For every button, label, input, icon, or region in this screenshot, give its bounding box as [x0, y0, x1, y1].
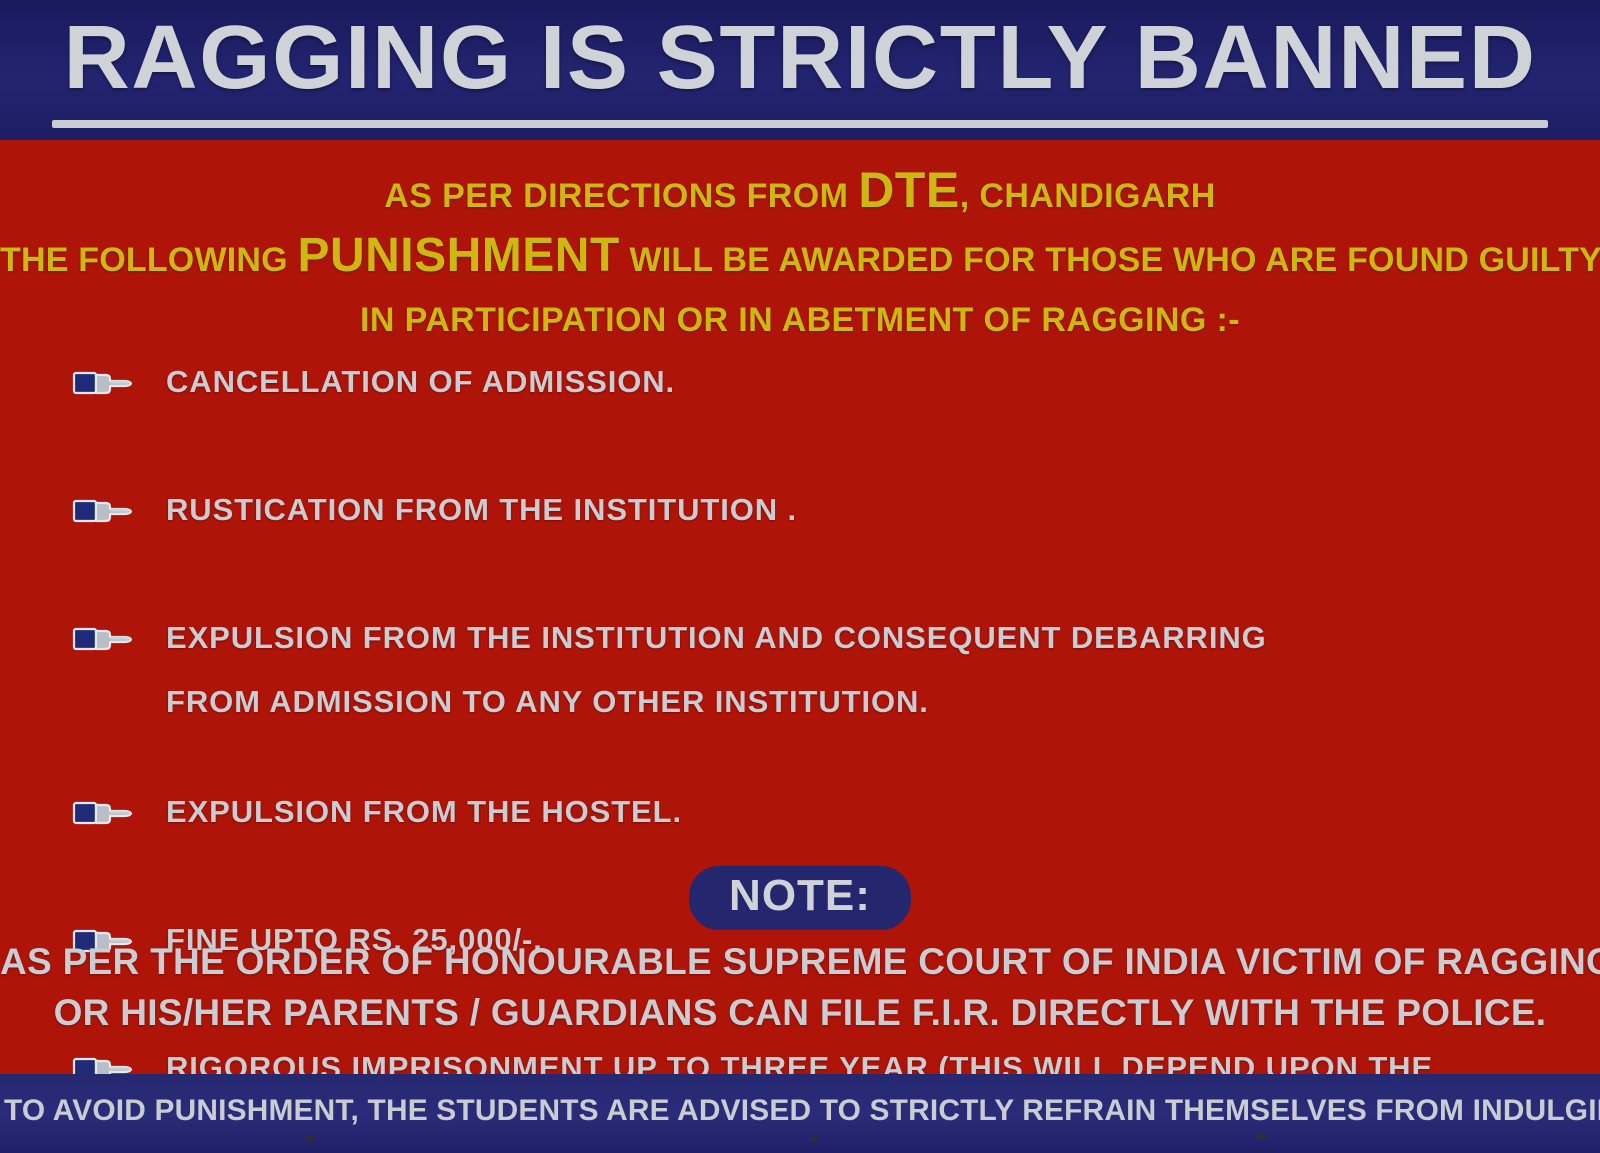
list-spacer: [72, 424, 1552, 488]
intro-block: AS PER DIRECTIONS FROM DTE, CHANDIGARH T…: [0, 160, 1600, 350]
intro-line-2-pre: THE FOLLOWING: [0, 241, 297, 279]
header-underline-rule: [52, 120, 1548, 128]
dte-emphasis: DTE: [858, 162, 960, 218]
pointing-hand-icon: [72, 622, 134, 656]
list-spacer: [72, 552, 1552, 616]
list-item: RUSTICATION FROM THE INSTITUTION .: [72, 488, 1552, 552]
list-item-label: EXPULSION FROM THE INSTITUTION AND CONSE…: [166, 616, 1552, 660]
page-title: RAGGING IS STRICTLY BANNED: [0, 6, 1600, 110]
list-item-label: EXPULSION FROM THE HOSTEL.: [166, 790, 1552, 834]
intro-line-2-post: WILL BE AWARDED FOR THOSE WHO ARE FOUND …: [620, 241, 1600, 279]
surface-speck: [1255, 1134, 1267, 1139]
ragging-notice-board: RAGGING IS STRICTLY BANNED AS PER DIRECT…: [0, 0, 1600, 1153]
note-body: AS PER THE ORDER OF HONOURABLE SUPREME C…: [0, 936, 1600, 1038]
list-item-continuation: FROM ADMISSION TO ANY OTHER INSTITUTION.: [166, 660, 1552, 724]
intro-line-3: IN PARTICIPATION OR IN ABETMENT OF RAGGI…: [0, 290, 1600, 350]
surface-speck: [810, 1137, 819, 1142]
note-line-2: OR HIS/HER PARENTS / GUARDIANS CAN FILE …: [0, 987, 1600, 1038]
header-banner: RAGGING IS STRICTLY BANNED: [0, 0, 1600, 140]
note-line-1: AS PER THE ORDER OF HONOURABLE SUPREME C…: [0, 936, 1600, 987]
list-item: CANCELLATION OF ADMISSION.: [72, 360, 1552, 424]
punishment-emphasis: PUNISHMENT: [297, 229, 619, 282]
pointing-hand-icon: [72, 494, 134, 528]
list-spacer: [72, 724, 1552, 790]
intro-line-2: THE FOLLOWING PUNISHMENT WILL BE AWARDED…: [0, 226, 1600, 290]
note-badge-wrapper: NOTE:: [0, 866, 1600, 930]
pointing-hand-icon: [72, 366, 134, 400]
list-item-label: CANCELLATION OF ADMISSION.: [166, 360, 1552, 404]
surface-speck: [305, 1136, 316, 1141]
intro-line-1-post: , CHANDIGARH: [960, 177, 1216, 215]
list-item-label: RUSTICATION FROM THE INSTITUTION .: [166, 488, 1552, 532]
pointing-hand-icon: [72, 796, 134, 830]
note-badge: NOTE:: [689, 866, 911, 930]
list-item: EXPULSION FROM THE INSTITUTION AND CONSE…: [72, 616, 1552, 724]
list-item: EXPULSION FROM THE HOSTEL.: [72, 790, 1552, 854]
footer-banner: TO AVOID PUNISHMENT, THE STUDENTS ARE AD…: [0, 1074, 1600, 1153]
footer-advisory-text: TO AVOID PUNISHMENT, THE STUDENTS ARE AD…: [4, 1090, 1596, 1132]
intro-line-1-pre: AS PER DIRECTIONS FROM: [384, 177, 858, 215]
intro-line-1: AS PER DIRECTIONS FROM DTE, CHANDIGARH: [0, 160, 1600, 226]
